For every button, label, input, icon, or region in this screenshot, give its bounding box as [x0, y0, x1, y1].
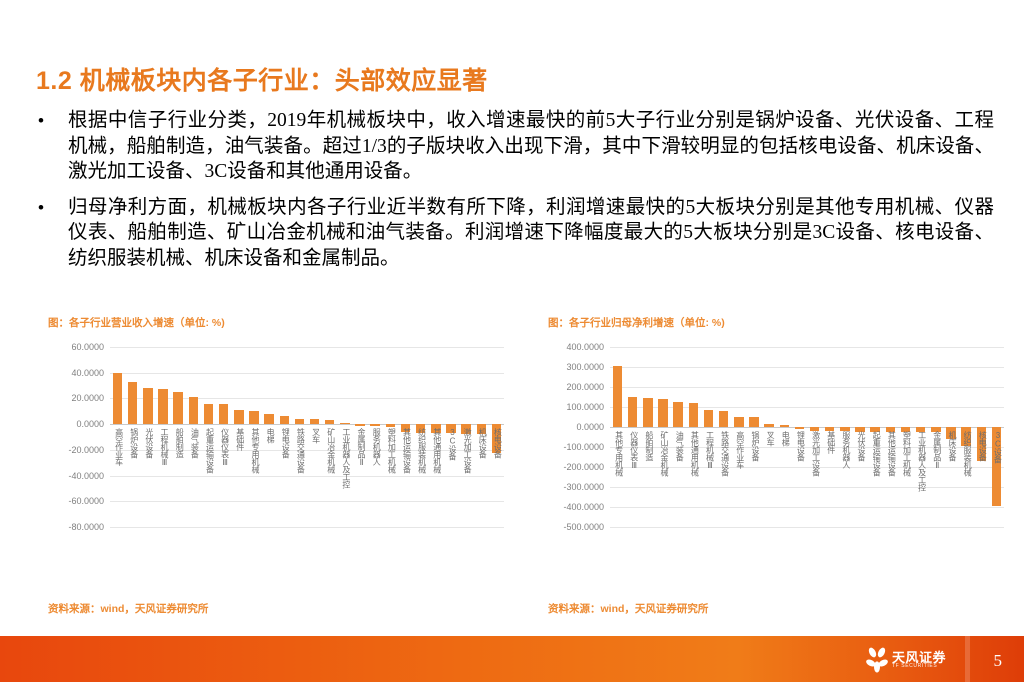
- chart-revenue-growth: 图：各子行业营业收入增速（单位: %) 60.000040.000020.000…: [40, 315, 510, 615]
- brand-logo: 天风证券 TF SECURITIES: [866, 646, 946, 674]
- x-axis-tick-label: 铁路交通设备: [720, 431, 731, 476]
- x-axis-tick-label: 机床设备: [477, 428, 488, 458]
- x-axis-tick-label: 其他运输设备: [886, 431, 897, 476]
- x-axis-tick-label: 锅炉设备: [129, 428, 140, 458]
- x-axis-tick-label: 激光加工设备: [811, 431, 822, 476]
- bar: [658, 399, 667, 427]
- x-axis-tick-label: 基础件: [235, 428, 246, 451]
- bar: [189, 397, 198, 424]
- x-axis-tick-label: 其他专用机械: [614, 431, 625, 476]
- grid-line: [110, 527, 504, 528]
- x-axis-tick-label: 锂电设备: [795, 431, 806, 461]
- bar: [719, 411, 728, 427]
- grid-line: [110, 476, 504, 477]
- y-axis-tick-label: -200.0000: [538, 462, 604, 472]
- chart-title: 图：各子行业归母净利增速（单位: %): [548, 315, 725, 330]
- grid-line: [110, 501, 504, 502]
- y-axis-tick-label: 20.0000: [38, 393, 104, 403]
- bar: [613, 366, 622, 427]
- x-axis-tick-label: 塑料加工机械: [902, 431, 913, 476]
- x-axis-tick-label: 铁路交通设备: [295, 428, 306, 473]
- chart-source-note: 资料来源：wind，天风证券研究所: [548, 601, 708, 616]
- x-axis-tick-label: 光伏设备: [856, 431, 867, 461]
- bullet-marker-icon: •: [34, 108, 68, 134]
- grid-line: [610, 367, 1004, 368]
- y-axis-tick-label: -100.0000: [538, 442, 604, 452]
- logo-name-en: TF SECURITIES: [892, 664, 946, 669]
- axis-zero-line: [610, 427, 1004, 428]
- bar: [113, 373, 122, 424]
- x-axis-tick-label: 矿山冶金机械: [326, 428, 337, 473]
- x-axis-tick-label: 其他专用机械: [250, 428, 261, 473]
- footer-accent-stripe: [965, 636, 970, 682]
- bar: [234, 410, 243, 424]
- x-axis-tick-label: 激光加工设备: [462, 428, 473, 473]
- bar: [780, 425, 789, 427]
- y-axis-tick-label: -300.0000: [538, 482, 604, 492]
- x-axis-tick-label: 矿山冶金机械: [659, 431, 670, 476]
- x-axis-tick-label: 3C设备: [992, 431, 1003, 463]
- page-number: 5: [994, 651, 1003, 671]
- y-axis-tick-label: 40.0000: [38, 368, 104, 378]
- x-axis-tick-label: 叉车: [765, 431, 776, 446]
- logo-text-block: 天风证券 TF SECURITIES: [892, 651, 946, 670]
- x-axis-tick-label: 服务机器人: [371, 428, 382, 466]
- y-axis-tick-label: 0.0000: [538, 422, 604, 432]
- bar: [264, 414, 273, 424]
- x-axis-tick-label: 工业机器人及工控: [341, 428, 352, 488]
- chart-source-note: 资料来源：wind，天风证券研究所: [48, 601, 208, 616]
- grid-line: [610, 347, 1004, 348]
- x-axis-tick-label: 核电设备: [492, 428, 503, 458]
- bar: [643, 398, 652, 427]
- bar: [325, 420, 334, 424]
- x-axis-tick-label: 纺织服装机械: [417, 428, 428, 473]
- x-axis-tick-label: 船舶制造: [174, 428, 185, 458]
- bar: [673, 402, 682, 427]
- list-item: • 归母净利方面，机械板块内各子行业近半数有所下降，利润增速最快的5大板块分别是…: [34, 195, 994, 272]
- bar: [143, 388, 152, 425]
- bar: [749, 417, 758, 427]
- logo-name-cn: 天风证券: [892, 651, 946, 665]
- slide-root: 1.2 机械板块内各子行业：头部效应显著 • 根据中信子行业分类，2019年机械…: [0, 0, 1024, 682]
- plot-area-net-profit: 400.0000300.0000200.0000100.00000.0000-1…: [540, 341, 1010, 586]
- x-axis-tick-label: 金属制品Ⅱ: [932, 431, 943, 470]
- x-axis-tick-label: 电梯: [780, 431, 791, 446]
- x-axis-tick-label: 其他通用机械: [689, 431, 700, 476]
- x-axis-tick-label: 叉车: [311, 428, 322, 443]
- x-axis-tick-label: 电梯: [265, 428, 276, 443]
- x-axis-tick-label: 工程机械Ⅲ: [705, 431, 716, 470]
- bar: [219, 404, 228, 424]
- y-axis-tick-label: 400.0000: [538, 342, 604, 352]
- x-axis-tick-label: 船舶制造: [644, 431, 655, 461]
- y-axis-tick-label: -400.0000: [538, 502, 604, 512]
- x-axis-tick-label: 仪器仪表Ⅲ: [629, 431, 640, 470]
- grid-line: [110, 373, 504, 374]
- x-axis-tick-label: 核电设备: [977, 431, 988, 461]
- bar: [704, 410, 713, 427]
- grid-line: [610, 487, 1004, 488]
- x-axis-tick-label: 其他通用机械: [432, 428, 443, 473]
- bullet-marker-icon: •: [34, 195, 68, 221]
- bar: [295, 419, 304, 424]
- bar: [734, 417, 743, 427]
- y-axis-tick-label: -20.0000: [38, 445, 104, 455]
- x-axis-tick-label: 工业机器人及工控: [917, 431, 928, 491]
- bar: [340, 423, 349, 425]
- chart-net-profit-growth: 图：各子行业归母净利增速（单位: %) 400.0000300.0000200.…: [540, 315, 1010, 615]
- grid-line: [610, 507, 1004, 508]
- y-axis-tick-label: 60.0000: [38, 342, 104, 352]
- x-axis-tick-label: 高空作业车: [735, 431, 746, 469]
- bar: [628, 397, 637, 427]
- bullet-paragraph: 归母净利方面，机械板块内各子行业近半数有所下降，利润增速最快的5大板块分别是其他…: [68, 195, 994, 272]
- x-axis-tick-label: 油气装备: [189, 428, 200, 458]
- bullet-paragraph: 根据中信子行业分类，2019年机械板块中，收入增速最快的前5大子行业分别是锅炉设…: [68, 108, 994, 185]
- x-axis-tick-label: 起重运输设备: [871, 431, 882, 476]
- axis-zero-line: [110, 424, 504, 425]
- bar: [795, 427, 804, 429]
- bar: [173, 392, 182, 424]
- x-axis-tick-label: 锂电设备: [280, 428, 291, 458]
- grid-line: [610, 387, 1004, 388]
- y-axis-tick-label: -60.0000: [38, 496, 104, 506]
- x-axis-tick-label: 基础件: [826, 431, 837, 454]
- x-axis-tick-label: 其他运输设备: [402, 428, 413, 473]
- bar: [158, 389, 167, 424]
- bar: [310, 419, 319, 424]
- x-axis-tick-label: 光伏设备: [144, 428, 155, 458]
- flower-logo-icon: [866, 646, 888, 674]
- x-axis-tick-label: 仪器仪表Ⅲ: [220, 428, 231, 467]
- y-axis-tick-label: 100.0000: [538, 402, 604, 412]
- x-axis-tick-label: 工程机械Ⅲ: [159, 428, 170, 467]
- grid-line: [610, 407, 1004, 408]
- bar: [128, 382, 137, 424]
- bar: [370, 424, 379, 426]
- x-axis-tick-label: 高空作业车: [114, 428, 125, 466]
- y-axis-tick-label: 300.0000: [538, 362, 604, 372]
- x-axis-tick-label: 金属制品Ⅱ: [356, 428, 367, 467]
- y-axis-tick-label: -500.0000: [538, 522, 604, 532]
- grid-line: [110, 398, 504, 399]
- x-axis-tick-label: 机床设备: [947, 431, 958, 461]
- x-axis-tick-label: 锅炉设备: [750, 431, 761, 461]
- grid-line: [110, 347, 504, 348]
- list-item: • 根据中信子行业分类，2019年机械板块中，收入增速最快的前5大子行业分别是锅…: [34, 108, 994, 185]
- y-axis-tick-label: 200.0000: [538, 382, 604, 392]
- chart-title: 图：各子行业营业收入增速（单位: %): [48, 315, 225, 330]
- y-axis-tick-label: 0.0000: [38, 419, 104, 429]
- y-axis-tick-label: -40.0000: [38, 471, 104, 481]
- y-axis-tick-label: -80.0000: [38, 522, 104, 532]
- grid-line: [610, 527, 1004, 528]
- x-axis-tick-label: 油气装备: [674, 431, 685, 461]
- bar: [204, 404, 213, 425]
- footer-bar: 天风证券 TF SECURITIES 5: [0, 636, 1024, 682]
- bar: [689, 403, 698, 427]
- bar: [249, 411, 258, 424]
- bar: [764, 424, 773, 427]
- x-axis-tick-label: 起重运输设备: [205, 428, 216, 473]
- plot-area-revenue: 60.000040.000020.00000.0000-20.0000-40.0…: [40, 341, 510, 586]
- body-bullet-list: • 根据中信子行业分类，2019年机械板块中，收入增速最快的前5大子行业分别是锅…: [34, 108, 994, 281]
- bar: [386, 424, 395, 427]
- x-axis-tick-label: 塑料加工机械: [386, 428, 397, 473]
- page-title: 1.2 机械板块内各子行业：头部效应显著: [36, 61, 488, 97]
- x-axis-tick-label: 纺织服装机械: [962, 431, 973, 476]
- x-axis-tick-label: 服务机器人: [841, 431, 852, 469]
- bar: [355, 424, 364, 426]
- bar: [280, 416, 289, 424]
- x-axis-tick-label: 3C设备: [447, 428, 458, 460]
